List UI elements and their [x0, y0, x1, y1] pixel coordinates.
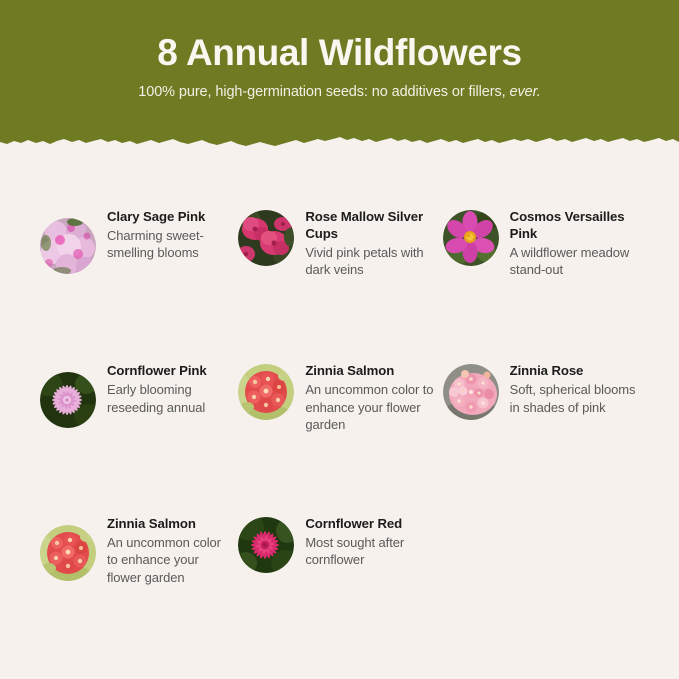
- flower-name: Cosmos Versailles Pink: [510, 209, 641, 243]
- caption-block: Rose Mallow Silver Cups Vivid pink petal…: [305, 208, 434, 278]
- grid-row: Zinnia Salmon An uncommon color to enhan…: [30, 515, 649, 586]
- page-header: 8 Annual Wildflowers 100% pure, high-ger…: [0, 0, 679, 156]
- flower-description: Early blooming reseeding annual: [107, 381, 228, 416]
- clary-sage-pink-photo: [40, 218, 96, 274]
- flower-description: Charming sweet-smelling blooms: [107, 227, 228, 262]
- header-text-block: 8 Annual Wildflowers 100% pure, high-ger…: [0, 0, 679, 100]
- flower-name: Cornflower Red: [305, 516, 434, 533]
- flower-item-zinnia-salmon-2[interactable]: Zinnia Salmon An uncommon color to enhan…: [30, 515, 236, 586]
- flower-item-zinnia-salmon[interactable]: Zinnia Salmon An uncommon color to enhan…: [236, 362, 442, 433]
- flower-name: Zinnia Salmon: [107, 516, 228, 533]
- flower-description: A wildflower meadow stand-out: [510, 244, 641, 279]
- flower-description: An uncommon color to enhance your flower…: [305, 381, 434, 433]
- grid-row: Cornflower Pink Early blooming reseeding…: [30, 362, 649, 433]
- caption-block: Zinnia Salmon An uncommon color to enhan…: [305, 362, 434, 433]
- page-title: 8 Annual Wildflowers: [0, 34, 679, 73]
- flower-item-cornflower-red[interactable]: Cornflower Red Most sought after cornflo…: [236, 515, 442, 586]
- flower-description: Most sought after cornflower: [305, 534, 434, 569]
- subtitle-main-text: 100% pure, high-germination seeds: no ad…: [138, 84, 505, 100]
- flower-name: Zinnia Rose: [510, 363, 641, 380]
- caption-block: Cornflower Red Most sought after cornflo…: [305, 515, 434, 568]
- cornflower-pink-photo: [40, 372, 96, 428]
- caption-block: Zinnia Salmon An uncommon color to enhan…: [107, 515, 228, 586]
- flower-name: Zinnia Salmon: [305, 363, 434, 380]
- page-subtitle: 100% pure, high-germination seeds: no ad…: [0, 84, 679, 100]
- flower-name: Cornflower Pink: [107, 363, 228, 380]
- caption-block: Cornflower Pink Early blooming reseeding…: [107, 362, 228, 415]
- flower-description: Vivid pink petals with dark veins: [305, 244, 434, 279]
- flower-description: An uncommon color to enhance your flower…: [107, 534, 228, 586]
- zinnia-salmon-photo: [238, 364, 294, 420]
- cosmos-versailles-pink-photo: [443, 210, 499, 266]
- flower-name: Clary Sage Pink: [107, 209, 228, 226]
- flower-item-cosmos-versailles-pink[interactable]: Cosmos Versailles Pink A wildflower mead…: [443, 208, 649, 278]
- caption-block: Cosmos Versailles Pink A wildflower mead…: [510, 208, 641, 278]
- wildflower-grid: Clary Sage Pink Charming sweet-smelling …: [0, 156, 679, 586]
- flower-item-clary-sage-pink[interactable]: Clary Sage Pink Charming sweet-smelling …: [30, 208, 236, 278]
- grid-row: Clary Sage Pink Charming sweet-smelling …: [30, 208, 649, 278]
- zinnia-rose-photo: [443, 364, 499, 420]
- torn-paper-edge: [0, 131, 679, 156]
- flower-item-rose-mallow-silver-cups[interactable]: Rose Mallow Silver Cups Vivid pink petal…: [236, 208, 442, 278]
- flower-item-cornflower-pink[interactable]: Cornflower Pink Early blooming reseeding…: [30, 362, 236, 433]
- flower-item-zinnia-rose[interactable]: Zinnia Rose Soft, spherical blooms in sh…: [443, 362, 649, 433]
- subtitle-emphasis-text: ever.: [510, 84, 541, 100]
- rose-mallow-silver-cups-photo: [238, 210, 294, 266]
- flower-description: Soft, spherical blooms in shades of pink: [510, 381, 641, 416]
- caption-block: Clary Sage Pink Charming sweet-smelling …: [107, 208, 228, 261]
- cornflower-red-photo: [238, 517, 294, 573]
- caption-block: Zinnia Rose Soft, spherical blooms in sh…: [510, 362, 641, 415]
- flower-name: Rose Mallow Silver Cups: [305, 209, 434, 243]
- zinnia-salmon-photo: [40, 525, 96, 581]
